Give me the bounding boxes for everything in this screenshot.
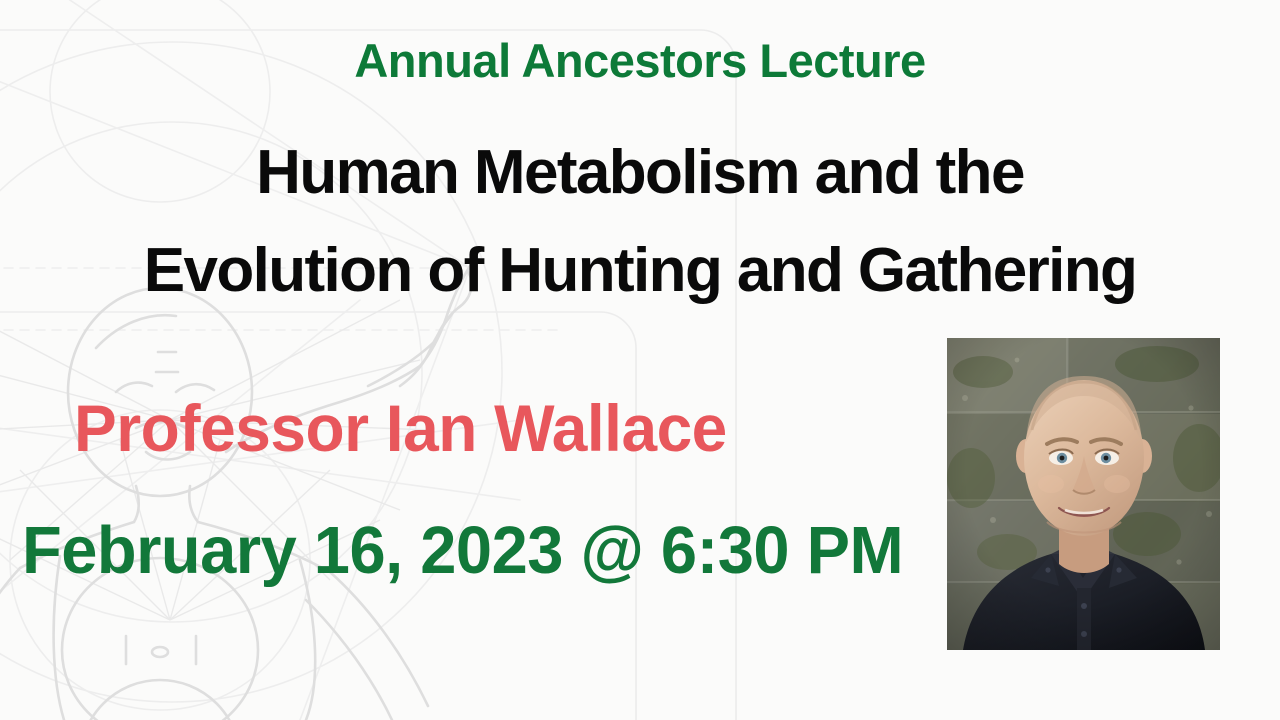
- event-datetime: February 16, 2023 @ 6:30 PM: [22, 513, 903, 588]
- title-line-2: Evolution of Hunting and Gathering: [0, 222, 1280, 320]
- title-line-1: Human Metabolism and the: [0, 124, 1280, 222]
- speaker-portrait-photo: [947, 338, 1220, 650]
- lecture-poster: Annual Ancestors Lecture Human Metabolis…: [0, 0, 1280, 720]
- lecture-series-eyebrow: Annual Ancestors Lecture: [0, 36, 1280, 87]
- speaker-name: Professor Ian Wallace: [74, 392, 727, 466]
- page-title: Human Metabolism and the Evolution of Hu…: [0, 124, 1280, 320]
